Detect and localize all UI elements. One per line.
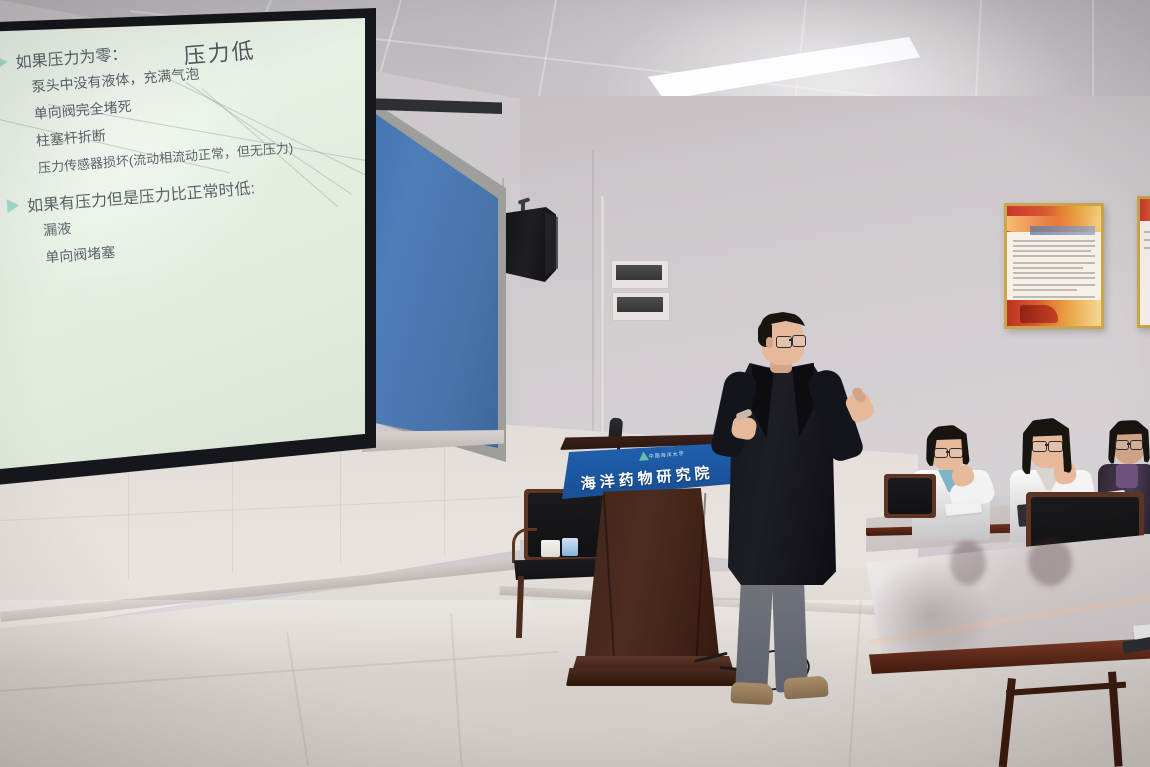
attendee-3-glasses-lens-left xyxy=(1115,440,1129,450)
presenter-glasses-bridge xyxy=(789,339,793,341)
poster-text-line xyxy=(1013,250,1091,252)
slide-bullet-marker xyxy=(7,198,20,213)
attendee-3-scarf xyxy=(1116,464,1138,488)
projection-screen: 压力低 如果压力为零： 泵头中没有液体，充满气泡 单向阀完全堵死 柱塞杆折断 压… xyxy=(0,18,365,470)
presenter-shoe-right xyxy=(783,675,828,699)
poster-text-line xyxy=(1144,231,1150,233)
slide-heading-1: 如果压力为零： xyxy=(15,40,129,73)
tile-grid-line xyxy=(232,455,233,573)
presenter-ear xyxy=(766,337,773,348)
notice-poster-partial xyxy=(1137,196,1150,328)
poster-text-line xyxy=(1144,247,1150,249)
tissue-box[interactable] xyxy=(541,540,560,557)
poster-text-line xyxy=(1144,239,1150,241)
poster-footer-graphic xyxy=(1020,305,1058,323)
blue-packet[interactable] xyxy=(562,538,578,556)
slide-content: 压力低 如果压力为零： 泵头中没有液体，充满气泡 单向阀完全堵死 柱塞杆折断 压… xyxy=(0,18,365,469)
attendee-2-glasses-lens-right xyxy=(1048,441,1063,452)
poster-text-line xyxy=(1013,245,1095,247)
poster-text-line xyxy=(1013,262,1095,264)
presenter-leg-right xyxy=(772,579,808,692)
attendee-1-glasses-bridge xyxy=(946,451,950,453)
presenter-glasses-lens-left xyxy=(776,336,792,348)
wall-vent-lower-grille xyxy=(617,297,663,312)
notice-poster-main xyxy=(1004,203,1104,329)
lecture-room-photo: 压力低 如果压力为零： 泵头中没有液体，充满气泡 单向阀完全堵死 柱塞杆折断 压… xyxy=(0,0,1150,767)
poster-text-line xyxy=(1013,240,1095,242)
attendee-2-glasses-lens-left xyxy=(1032,441,1047,452)
attendee-3-glasses-lens-right xyxy=(1130,440,1143,450)
audience-chair-backrest xyxy=(888,478,932,514)
poster-text-line xyxy=(1013,255,1095,257)
attendee-1-glasses-lens-right xyxy=(949,448,963,458)
presenter-leg-left xyxy=(735,581,773,693)
chair-armrest xyxy=(512,528,537,563)
poster-text-line xyxy=(1013,272,1095,274)
attendee-1-glasses-lens-left xyxy=(934,448,948,458)
wall-conduit-pipe xyxy=(600,196,605,446)
attendee-3-glasses-bridge xyxy=(1127,443,1131,445)
slide-heading-2: 如果有压力但是压力比正常时低: xyxy=(26,174,256,216)
attendee-2-glasses-bridge xyxy=(1045,444,1049,446)
poster-text-line xyxy=(1013,267,1083,269)
poster-title-bar xyxy=(1030,226,1096,235)
slide-item: 漏液 xyxy=(42,218,72,240)
tile-grid-line xyxy=(128,460,129,580)
slide-item: 柱塞杆折断 xyxy=(35,125,106,151)
presenter-shoe-left xyxy=(730,682,773,705)
tile-grid-line xyxy=(340,450,341,564)
table-reflection-head xyxy=(1028,538,1072,586)
presenter-glasses-lens-right xyxy=(792,335,806,347)
wall-speaker-side xyxy=(545,212,558,276)
wall-corner-seam xyxy=(592,150,594,450)
poster-text-line xyxy=(1013,277,1095,279)
tile-grid-line xyxy=(444,446,445,556)
poster-header-band xyxy=(1140,199,1150,221)
slide-item: 单向阀堵塞 xyxy=(45,242,116,268)
slide-bullet-marker xyxy=(0,55,8,70)
poster-text-line xyxy=(1013,296,1095,298)
poster-text-line xyxy=(1013,284,1095,286)
presenter xyxy=(700,305,890,705)
slide-item: 单向阀完全堵死 xyxy=(33,96,132,124)
wall-vent-upper-grille xyxy=(616,265,662,280)
table-shadow xyxy=(870,560,990,670)
poster-text-line xyxy=(1013,289,1077,291)
